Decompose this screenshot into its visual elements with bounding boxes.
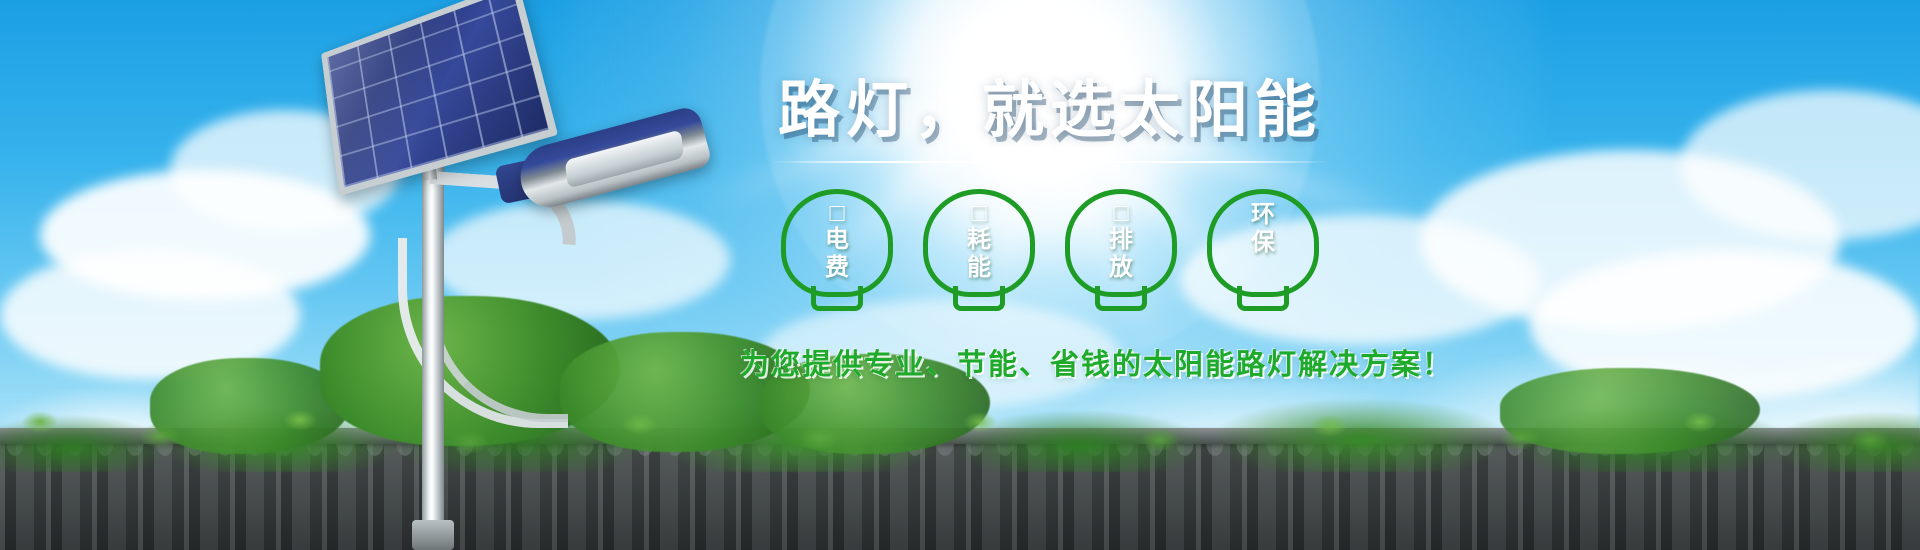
badge-line-2: 保 <box>1251 230 1275 257</box>
banner-headline: 路灯，就选太阳能 <box>740 78 1360 145</box>
banner-tagline: 为您提供专业、节能、省钱的太阳能路灯解决方案！ <box>740 341 1360 383</box>
solar-streetlight-banner: 路灯，就选太阳能 □ 电 费 □ 耗 能 <box>0 0 1920 550</box>
feature-badge: 环 保 <box>1207 189 1319 297</box>
feature-badge-text: □ 排 放 <box>1065 201 1177 282</box>
badge-line-2: 放 <box>1109 255 1133 282</box>
feature-badge: □ 排 放 <box>1065 189 1177 297</box>
feature-badge-text: 环 保 <box>1207 201 1319 257</box>
solar-street-light <box>300 0 760 550</box>
badge-line-1: 环 <box>1251 202 1275 229</box>
vine-foliage <box>0 402 1920 490</box>
badge-line-2: 能 <box>967 255 991 282</box>
solar-panel-grid <box>327 0 548 187</box>
feature-badge-text: □ 电 费 <box>781 201 893 282</box>
banner-content: 路灯，就选太阳能 □ 电 费 □ 耗 能 <box>740 78 1360 383</box>
lamp-lens <box>565 129 684 188</box>
badge-line-2: 费 <box>825 255 849 282</box>
feature-badge-list: □ 电 费 □ 耗 能 □ 排 放 <box>740 189 1360 297</box>
headline-divider <box>770 161 1330 163</box>
badge-line-1: 电 <box>825 227 849 254</box>
feature-badge-text: □ 耗 能 <box>923 201 1035 282</box>
badge-line-1: 排 <box>1109 227 1133 254</box>
badge-mark-glyph: □ <box>1113 201 1128 226</box>
badge-mark-glyph: □ <box>829 201 844 226</box>
feature-badge: □ 电 费 <box>781 189 893 297</box>
badge-mark-glyph: □ <box>971 201 986 226</box>
feature-badge: □ 耗 能 <box>923 189 1035 297</box>
badge-line-1: 耗 <box>967 227 991 254</box>
lamp-base <box>412 520 454 550</box>
